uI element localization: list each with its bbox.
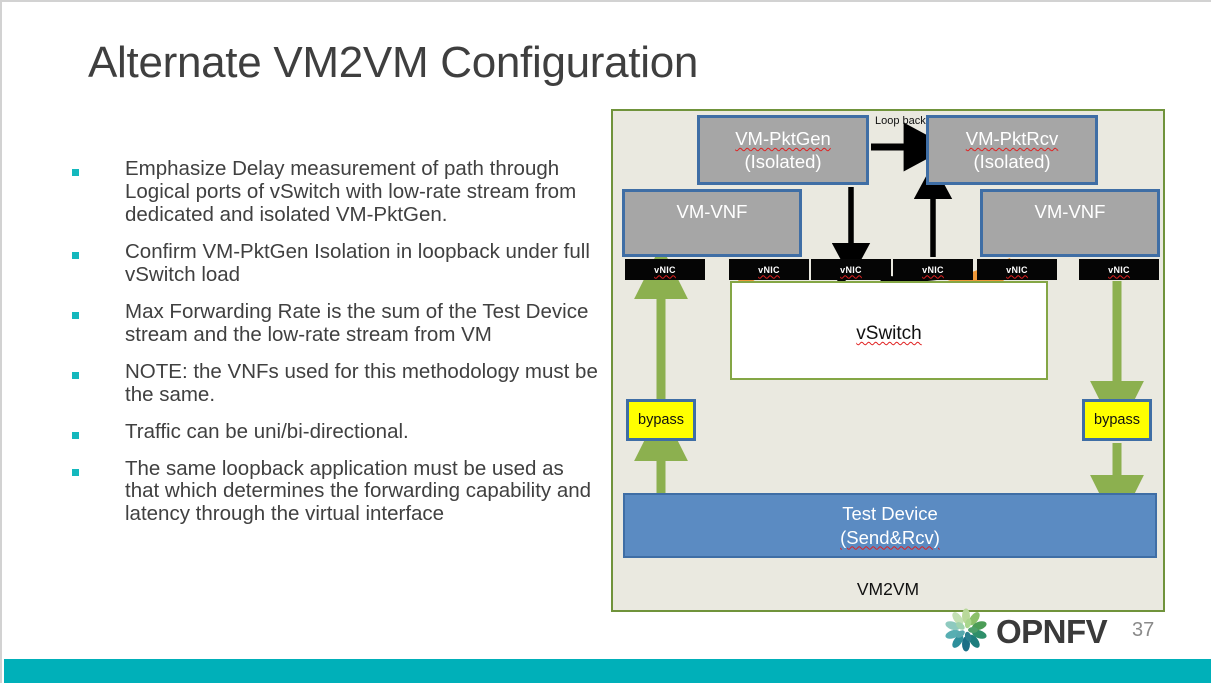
- test-device-label-line2: (Send&Rcv): [840, 526, 940, 549]
- vm-pktgen-label-line2: (Isolated): [744, 150, 821, 173]
- vm-pktgen-label-line1: VM-PktGen: [735, 127, 831, 150]
- vnic-label: vNIC: [654, 265, 676, 275]
- bullet-marker-icon: [72, 169, 79, 176]
- loopback-label: Loop back: [875, 115, 926, 127]
- bullet-marker-icon: [72, 252, 79, 259]
- page-number: 37: [1132, 619, 1154, 642]
- vnic-port-6[interactable]: vNIC: [1079, 259, 1159, 280]
- slide-canvas: Alternate VM2VM Configuration Emphasize …: [0, 0, 1211, 683]
- bypass-right-label: bypass: [1094, 412, 1140, 428]
- vnic-label: vNIC: [758, 265, 780, 275]
- list-item: Max Forwarding Rate is the sum of the Te…: [62, 301, 602, 347]
- vswitch-label: vSwitch: [732, 323, 1046, 345]
- list-item: Confirm VM-PktGen Isolation in loopback …: [62, 241, 602, 287]
- list-item: NOTE: the VNFs used for this methodology…: [62, 361, 602, 407]
- test-device-label-line1: Test Device: [842, 502, 938, 525]
- opnfv-logo: OPNFV: [940, 608, 1115, 654]
- vnic-label: vNIC: [840, 265, 862, 275]
- vnic-port-3[interactable]: vNIC: [811, 259, 891, 280]
- vnic-port-1[interactable]: vNIC: [625, 259, 705, 280]
- vswitch-panel: vSwitch: [730, 281, 1048, 380]
- bullet-text: Confirm VM-PktGen Isolation in loopback …: [125, 241, 602, 287]
- bullet-text: NOTE: the VNFs used for this methodology…: [125, 361, 602, 407]
- vnic-port-5[interactable]: vNIC: [977, 259, 1057, 280]
- vm-vnf-right-label: VM-VNF: [1035, 200, 1106, 223]
- vm-pktrcv-label-line2: (Isolated): [973, 150, 1050, 173]
- bullet-text: Emphasize Delay measurement of path thro…: [125, 158, 602, 227]
- opnfv-leaf-icon: [940, 608, 992, 652]
- vnic-port-2[interactable]: vNIC: [729, 259, 809, 280]
- vm-pktrcv-label-line1: VM-PktRcv: [966, 127, 1059, 150]
- bullet-text: The same loopback application must be us…: [125, 458, 602, 527]
- bullet-list: Emphasize Delay measurement of path thro…: [62, 158, 602, 540]
- vnic-label: vNIC: [922, 265, 944, 275]
- bullet-marker-icon: [72, 432, 79, 439]
- bullet-marker-icon: [72, 372, 79, 379]
- footer-accent-bar: [4, 659, 1211, 683]
- vnic-label: vNIC: [1108, 265, 1130, 275]
- vm-vnf-right-box[interactable]: VM-VNF: [980, 189, 1160, 257]
- vm-vnf-left-label: VM-VNF: [677, 200, 748, 223]
- opnfv-wordmark: OPNFV: [996, 613, 1107, 651]
- vm-vnf-left-box[interactable]: VM-VNF: [622, 189, 802, 257]
- vm-pktgen-box[interactable]: VM-PktGen (Isolated): [697, 115, 869, 185]
- page-title: Alternate VM2VM Configuration: [88, 38, 698, 88]
- vm-pktrcv-box[interactable]: VM-PktRcv (Isolated): [926, 115, 1098, 185]
- vm2vm-diagram: Loop back VM-PktGen (Isolated) VM-PktRcv…: [611, 109, 1165, 612]
- bullet-text: Traffic can be uni/bi-directional.: [125, 421, 602, 444]
- bullet-marker-icon: [72, 312, 79, 319]
- bypass-left-box[interactable]: bypass: [626, 399, 696, 441]
- list-item: Traffic can be uni/bi-directional.: [62, 421, 602, 444]
- bullet-marker-icon: [72, 469, 79, 476]
- vnic-port-4[interactable]: vNIC: [893, 259, 973, 280]
- bullet-text: Max Forwarding Rate is the sum of the Te…: [125, 301, 602, 347]
- list-item: The same loopback application must be us…: [62, 458, 602, 527]
- test-device-box[interactable]: Test Device (Send&Rcv): [623, 493, 1157, 558]
- bypass-left-label: bypass: [638, 412, 684, 428]
- vnic-label: vNIC: [1006, 265, 1028, 275]
- vm2vm-caption: VM2VM: [613, 579, 1163, 600]
- list-item: Emphasize Delay measurement of path thro…: [62, 158, 602, 227]
- bypass-right-box[interactable]: bypass: [1082, 399, 1152, 441]
